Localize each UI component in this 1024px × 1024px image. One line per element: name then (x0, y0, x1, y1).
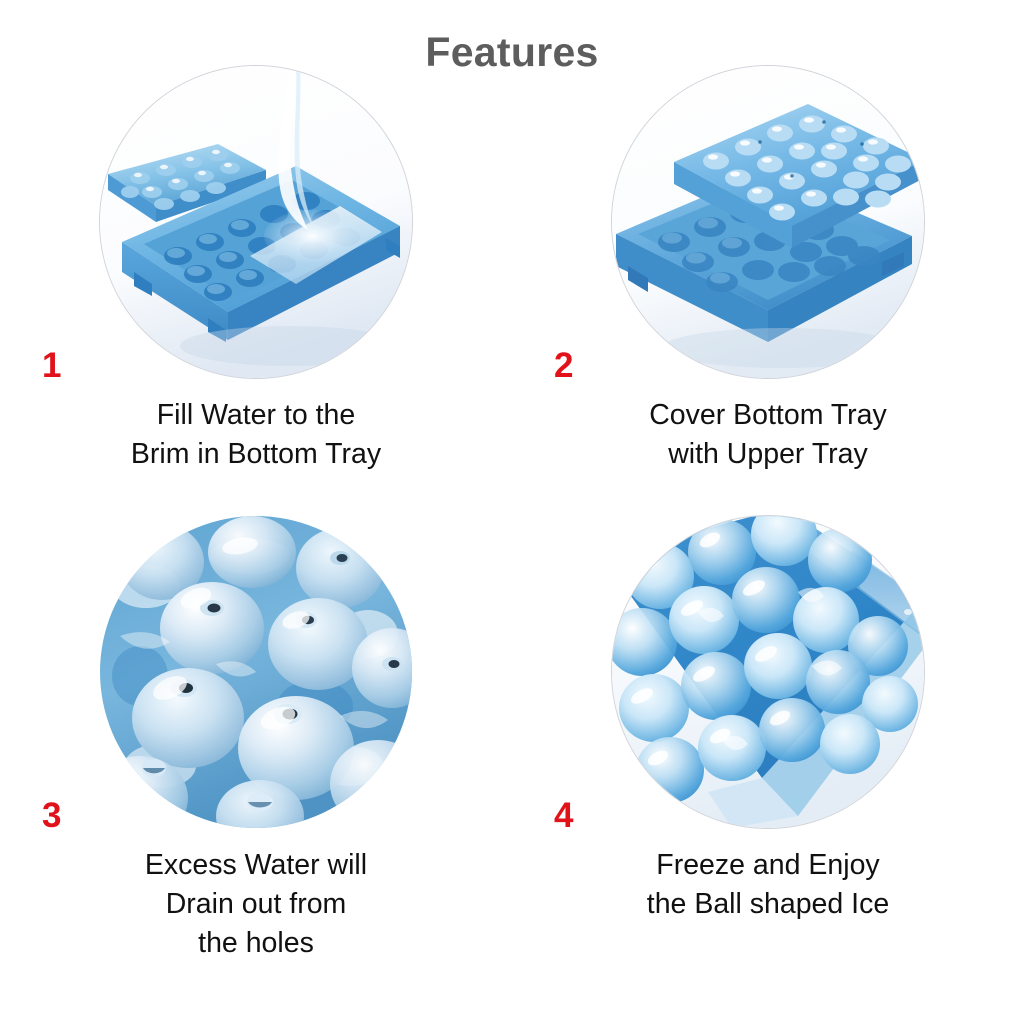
caption-line: Brim in Bottom Tray (0, 435, 512, 474)
ice-tray-covering-with-upper-tray-photo (612, 66, 924, 378)
step-caption-3: Excess Water will Drain out from the hol… (0, 846, 512, 963)
feature-step-1: 1 Fill Water to the Brim in Bottom Tray (0, 60, 512, 542)
frozen-ice-balls-in-tray-photo (612, 516, 924, 828)
step-number-2: 2 (554, 348, 573, 383)
step-1-photo-wrap (100, 66, 412, 378)
caption-line: Cover Bottom Tray (512, 396, 1024, 435)
caption-line: Excess Water will (0, 846, 512, 885)
feature-step-3: 3 Excess Water will Drain out from the h… (0, 510, 512, 992)
feature-step-4: 4 Freeze and Enjoy the Ball shaped Ice (512, 510, 1024, 992)
step-caption-2: Cover Bottom Tray with Upper Tray (512, 396, 1024, 474)
caption-line: Fill Water to the (0, 396, 512, 435)
ice-tray-drain-holes-closeup-photo (100, 516, 412, 828)
features-grid: 1 Fill Water to the Brim in Bottom Tray (0, 60, 1024, 1024)
step-4-photo-wrap (612, 516, 924, 828)
step-number-4: 4 (554, 798, 573, 833)
step-3-photo-wrap (100, 516, 412, 828)
step-caption-1: Fill Water to the Brim in Bottom Tray (0, 396, 512, 474)
step-number-1: 1 (42, 348, 61, 383)
step-2-photo-wrap (612, 66, 924, 378)
caption-line: Freeze and Enjoy (512, 846, 1024, 885)
feature-step-2: 2 Cover Bottom Tray with Upper Tray (512, 60, 1024, 542)
caption-line: the Ball shaped Ice (512, 885, 1024, 924)
ice-tray-filling-water-photo (100, 66, 412, 378)
caption-line: with Upper Tray (512, 435, 1024, 474)
caption-line: Drain out from (0, 885, 512, 924)
caption-line: the holes (0, 924, 512, 963)
step-caption-4: Freeze and Enjoy the Ball shaped Ice (512, 846, 1024, 924)
step-number-3: 3 (42, 798, 61, 833)
